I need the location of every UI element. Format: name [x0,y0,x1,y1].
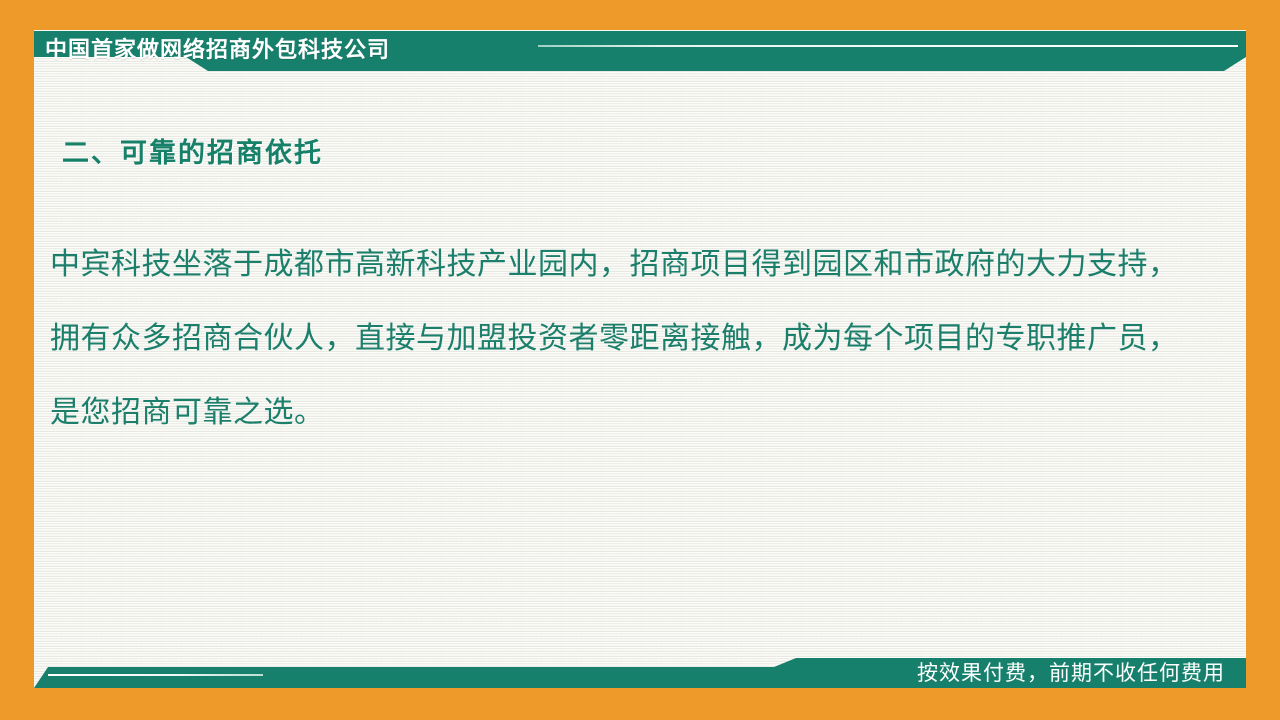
section-heading: 二、可靠的招商依托 [62,133,323,173]
body-paragraph: 中宾科技坐落于成都市高新科技产业园内，招商项目得到园区和市政府的大力支持，拥有众… [50,228,1185,450]
footer-band: 按效果付费，前期不收任何费用 [34,658,1246,688]
slide-canvas: 中国首家做网络招商外包科技公司 二、可靠的招商依托 中宾科技坐落于成都市高新科技… [0,0,1280,720]
footer-accent-line [48,674,263,676]
header-title: 中国首家做网络招商外包科技公司 [45,36,390,64]
header-accent-line [538,45,1238,47]
footer-tagline: 按效果付费，前期不收任何费用 [917,661,1225,687]
